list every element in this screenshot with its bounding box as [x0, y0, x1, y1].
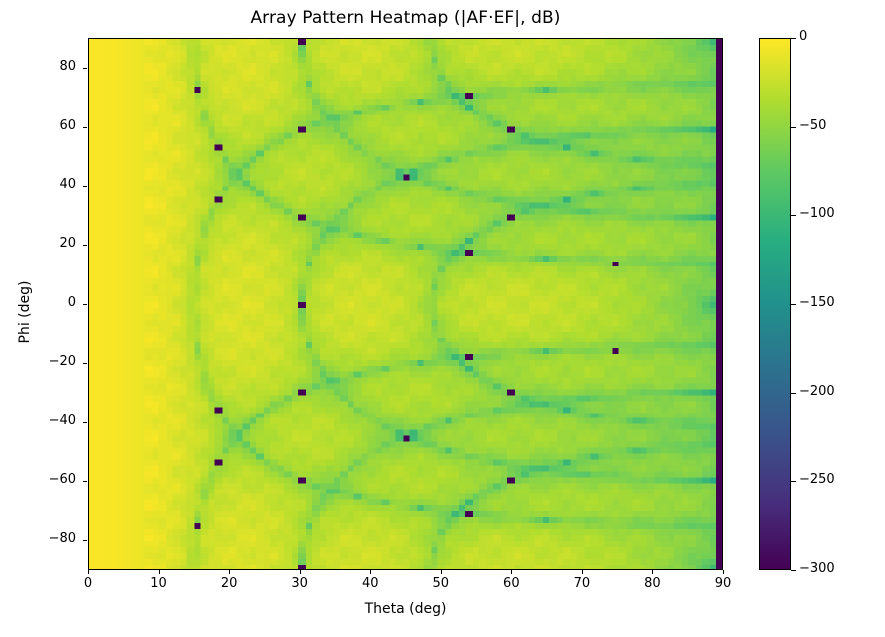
y-tick: [83, 68, 87, 69]
y-tick-label: −80: [0, 531, 76, 546]
y-tick-label: −20: [0, 354, 76, 369]
x-tick-label: 0: [58, 576, 118, 591]
y-tick: [83, 540, 87, 541]
y-tick: [83, 363, 87, 364]
y-axis-label: Phi (deg): [17, 192, 33, 432]
colorbar-tick-label: −50: [799, 118, 826, 133]
x-tick-label: 90: [693, 576, 753, 591]
x-tick-label: 80: [622, 576, 682, 591]
colorbar-tick-label: −250: [799, 472, 835, 487]
colorbar-tick: [791, 304, 796, 305]
x-tick: [441, 570, 442, 574]
heatmap-axes: [88, 38, 723, 570]
x-tick-label: 50: [411, 576, 471, 591]
x-tick: [88, 570, 89, 574]
colorbar-tick: [791, 215, 796, 216]
colorbar-tick-label: −100: [799, 206, 835, 221]
y-tick-label: −40: [0, 413, 76, 428]
colorbar-tick: [791, 570, 796, 571]
y-tick-label: −60: [0, 472, 76, 487]
colorbar-tick: [791, 127, 796, 128]
y-tick: [83, 422, 87, 423]
x-tick: [370, 570, 371, 574]
x-axis-label: Theta (deg): [88, 601, 723, 617]
y-tick: [83, 304, 87, 305]
x-tick: [511, 570, 512, 574]
colorbar-tick-label: 0: [799, 29, 807, 44]
x-tick: [159, 570, 160, 574]
y-tick-label: 40: [0, 177, 76, 192]
colorbar-tick-label: −150: [799, 295, 835, 310]
y-tick-label: 0: [0, 295, 76, 310]
colorbar-tick-label: −200: [799, 384, 835, 399]
figure-canvas: Array Pattern Heatmap (|AF·EF|, dB) 0102…: [0, 0, 885, 637]
y-tick: [83, 127, 87, 128]
x-tick-label: 20: [199, 576, 259, 591]
chart-title: Array Pattern Heatmap (|AF·EF|, dB): [88, 8, 723, 28]
y-tick: [83, 481, 87, 482]
x-tick: [229, 570, 230, 574]
y-tick-label: 60: [0, 118, 76, 133]
colorbar-tick: [791, 481, 796, 482]
x-tick: [652, 570, 653, 574]
y-tick-label: 80: [0, 59, 76, 74]
y-tick: [83, 186, 87, 187]
x-tick-label: 40: [340, 576, 400, 591]
y-tick: [83, 245, 87, 246]
x-tick-label: 60: [481, 576, 541, 591]
colorbar-tick-label: −300: [799, 561, 835, 576]
colorbar-gradient: [760, 39, 790, 569]
x-tick-label: 10: [129, 576, 189, 591]
x-tick: [582, 570, 583, 574]
colorbar: [759, 38, 791, 570]
heatmap-image: [89, 39, 722, 569]
y-tick-label: 20: [0, 236, 76, 251]
x-tick: [723, 570, 724, 574]
x-tick-label: 70: [552, 576, 612, 591]
colorbar-tick: [791, 393, 796, 394]
colorbar-tick: [791, 38, 796, 39]
x-tick: [300, 570, 301, 574]
x-tick-label: 30: [270, 576, 330, 591]
